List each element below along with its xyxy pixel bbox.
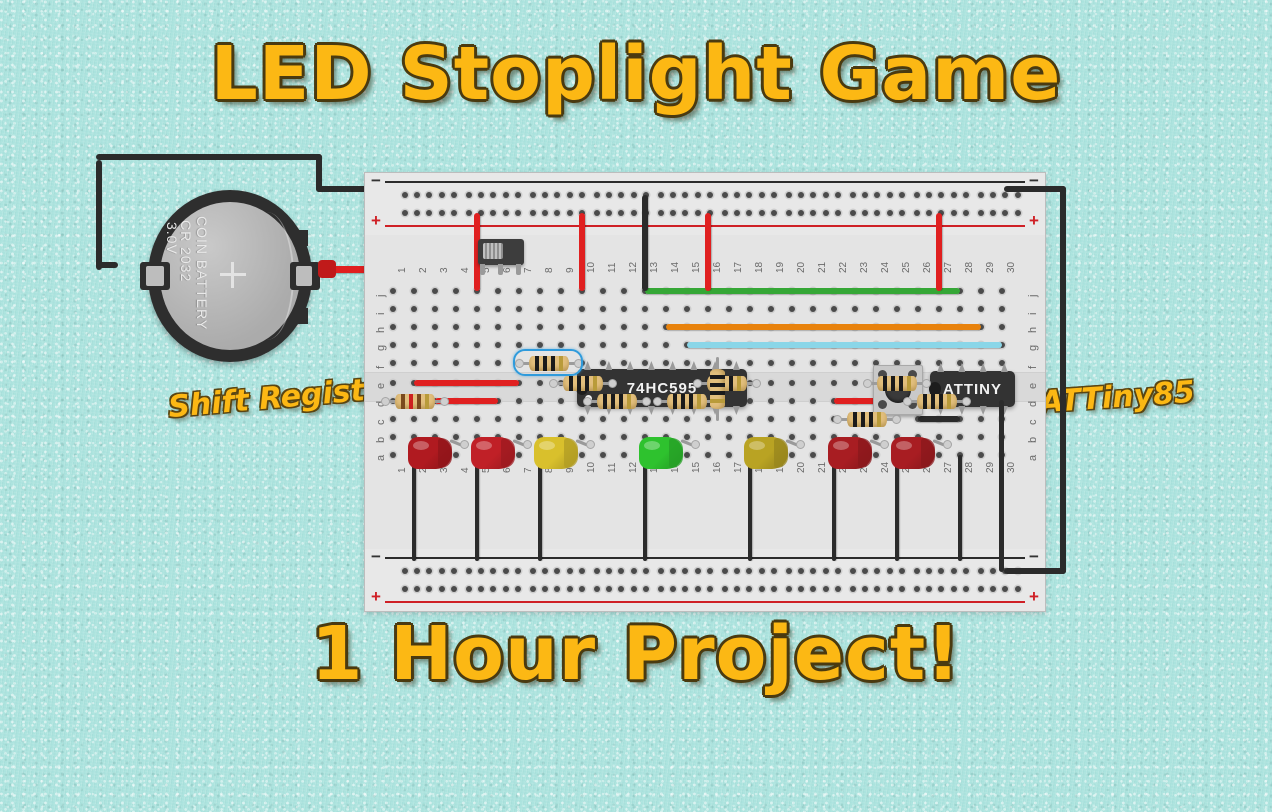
- rail-hole-bottom-neg[interactable]: [978, 586, 984, 592]
- rail-hole-top-pos[interactable]: [515, 210, 521, 216]
- rail-hole-top-neg[interactable]: [1015, 192, 1021, 198]
- hole-i19[interactable]: [768, 306, 774, 312]
- resistor-5[interactable]: [695, 376, 759, 391]
- rail-hole-top-pos[interactable]: [594, 210, 600, 216]
- resistor-6[interactable]: [865, 376, 929, 391]
- hole-j9[interactable]: [558, 288, 564, 294]
- rail-hole-bottom-pos[interactable]: [759, 568, 765, 574]
- hole-c13[interactable]: [642, 416, 648, 422]
- rail-hole-top-pos[interactable]: [722, 210, 728, 216]
- hole-f1[interactable]: [390, 360, 396, 366]
- slide-switch-slider[interactable]: [483, 243, 503, 259]
- rail-hole-top-pos[interactable]: [631, 210, 637, 216]
- hole-a21[interactable]: [810, 452, 816, 458]
- hole-c10[interactable]: [579, 416, 585, 422]
- led-yellow-2[interactable]: [534, 437, 594, 489]
- rail-hole-top-neg[interactable]: [402, 192, 408, 198]
- rail-hole-bottom-pos[interactable]: [771, 568, 777, 574]
- rail-jumper-red-4[interactable]: [936, 213, 942, 291]
- rail-hole-top-pos[interactable]: [887, 210, 893, 216]
- hole-c20[interactable]: [789, 416, 795, 422]
- rail-hole-top-pos[interactable]: [786, 210, 792, 216]
- rail-hole-bottom-pos[interactable]: [567, 568, 573, 574]
- rail-symbol-bottom-right-positive: +: [1029, 587, 1039, 607]
- rail-hole-top-neg[interactable]: [835, 192, 841, 198]
- hole-h30[interactable]: [999, 324, 1005, 330]
- resistor-band-2: [899, 376, 903, 391]
- rail-jumper-black-1[interactable]: [642, 195, 648, 291]
- resistor-input[interactable]: [383, 394, 447, 409]
- hole-f6[interactable]: [495, 360, 501, 366]
- hole-i12[interactable]: [621, 306, 627, 312]
- hole-g12[interactable]: [621, 342, 627, 348]
- hole-b29[interactable]: [978, 434, 984, 440]
- hole-g14[interactable]: [663, 342, 669, 348]
- hole-i3[interactable]: [432, 306, 438, 312]
- hole-j11[interactable]: [600, 288, 606, 294]
- rail-hole-bottom-neg[interactable]: [567, 586, 573, 592]
- rail-hole-top-pos[interactable]: [850, 210, 856, 216]
- pushbutton-leg-1: [878, 400, 887, 409]
- rail-hole-top-pos[interactable]: [835, 210, 841, 216]
- hole-i4[interactable]: [453, 306, 459, 312]
- hole-i18[interactable]: [747, 306, 753, 312]
- hole-i10[interactable]: [579, 306, 585, 312]
- rail-hole-bottom-pos[interactable]: [951, 568, 957, 574]
- hole-h8[interactable]: [537, 324, 543, 330]
- rail-hole-top-pos[interactable]: [451, 210, 457, 216]
- hole-g10[interactable]: [579, 342, 585, 348]
- rail-hole-bottom-neg[interactable]: [579, 586, 585, 592]
- hole-h4[interactable]: [453, 324, 459, 330]
- hole-f12[interactable]: [621, 360, 627, 366]
- rail-hole-top-neg[interactable]: [963, 192, 969, 198]
- rail-jumper-red-3[interactable]: [705, 213, 711, 291]
- hole-c19[interactable]: [768, 416, 774, 422]
- rail-hole-top-neg[interactable]: [503, 192, 509, 198]
- hole-h11[interactable]: [600, 324, 606, 330]
- hole-i26[interactable]: [915, 306, 921, 312]
- hole-j1[interactable]: [390, 288, 396, 294]
- hole-a29[interactable]: [978, 452, 984, 458]
- hole-h13[interactable]: [642, 324, 648, 330]
- jumper-wire-red-3[interactable]: [414, 380, 519, 386]
- rail-hole-top-pos[interactable]: [466, 210, 472, 216]
- hole-a11[interactable]: [600, 452, 606, 458]
- hole-g6[interactable]: [495, 342, 501, 348]
- hole-g1[interactable]: [390, 342, 396, 348]
- hole-i7[interactable]: [516, 306, 522, 312]
- rail-hole-bottom-pos[interactable]: [402, 568, 408, 574]
- rail-hole-bottom-neg[interactable]: [466, 586, 472, 592]
- hole-f20[interactable]: [789, 360, 795, 366]
- rail-hole-bottom-pos[interactable]: [707, 568, 713, 574]
- rail-hole-bottom-neg[interactable]: [707, 586, 713, 592]
- hole-b1[interactable]: [390, 434, 396, 440]
- rail-hole-bottom-neg[interactable]: [594, 586, 600, 592]
- row-label-right-e: e: [1027, 383, 1039, 389]
- rail-hole-top-neg[interactable]: [759, 192, 765, 198]
- rail-hole-top-pos[interactable]: [402, 210, 408, 216]
- resistor-band-2: [939, 394, 943, 409]
- hole-i17[interactable]: [726, 306, 732, 312]
- hole-j3[interactable]: [432, 288, 438, 294]
- led-red-6[interactable]: [891, 437, 951, 489]
- rail-hole-top-neg[interactable]: [695, 192, 701, 198]
- hole-e22[interactable]: [831, 380, 837, 386]
- rail-hole-bottom-pos[interactable]: [530, 568, 536, 574]
- led-red-5[interactable]: [828, 437, 888, 489]
- hole-e1[interactable]: [390, 380, 396, 386]
- hole-f5[interactable]: [474, 360, 480, 366]
- rail-hole-top-neg[interactable]: [515, 192, 521, 198]
- hole-c3[interactable]: [432, 416, 438, 422]
- hole-i22[interactable]: [831, 306, 837, 312]
- hole-h9[interactable]: [558, 324, 564, 330]
- hole-c17[interactable]: [726, 416, 732, 422]
- rail-hole-top-pos[interactable]: [658, 210, 664, 216]
- rail-hole-top-neg[interactable]: [823, 192, 829, 198]
- hole-h6[interactable]: [495, 324, 501, 330]
- rail-hole-top-neg[interactable]: [631, 192, 637, 198]
- hole-i16[interactable]: [705, 306, 711, 312]
- led-ground-leg-7[interactable]: [958, 455, 962, 561]
- hole-c4[interactable]: [453, 416, 459, 422]
- hole-a1[interactable]: [390, 452, 396, 458]
- hole-f21[interactable]: [810, 360, 816, 366]
- rail-hole-top-pos[interactable]: [503, 210, 509, 216]
- rail-hole-bottom-neg[interactable]: [402, 586, 408, 592]
- hole-e19[interactable]: [768, 380, 774, 386]
- col-label-bottom-16: 16: [712, 462, 723, 473]
- hole-c5[interactable]: [474, 416, 480, 422]
- led-green-3[interactable]: [639, 437, 699, 489]
- rail-hole-top-pos[interactable]: [914, 210, 920, 216]
- rail-hole-top-pos[interactable]: [963, 210, 969, 216]
- led-anode-tip: [586, 440, 595, 449]
- hole-f18[interactable]: [747, 360, 753, 366]
- rail-hole-bottom-neg[interactable]: [963, 586, 969, 592]
- hole-i14[interactable]: [663, 306, 669, 312]
- hole-c2[interactable]: [411, 416, 417, 422]
- rail-hole-top-neg[interactable]: [951, 192, 957, 198]
- rail-hole-top-neg[interactable]: [786, 192, 792, 198]
- battery-tab-left-metal: [146, 266, 164, 286]
- hole-f17[interactable]: [726, 360, 732, 366]
- hole-j8[interactable]: [537, 288, 543, 294]
- rail-hole-bottom-pos[interactable]: [451, 568, 457, 574]
- resistor-8[interactable]: [835, 412, 899, 427]
- hole-j29[interactable]: [978, 288, 984, 294]
- rail-hole-top-neg[interactable]: [850, 192, 856, 198]
- hole-b11[interactable]: [600, 434, 606, 440]
- hole-c21[interactable]: [810, 416, 816, 422]
- hole-g5[interactable]: [474, 342, 480, 348]
- resistor-band-3: [947, 394, 951, 409]
- rail-hole-bottom-neg[interactable]: [899, 586, 905, 592]
- rail-hole-top-neg[interactable]: [567, 192, 573, 198]
- hole-g2[interactable]: [411, 342, 417, 348]
- rail-hole-top-neg[interactable]: [887, 192, 893, 198]
- rail-hole-bottom-pos[interactable]: [643, 568, 649, 574]
- rail-hole-bottom-neg[interactable]: [1015, 586, 1021, 592]
- page-title-bottom: 1 Hour Project!: [0, 612, 1272, 696]
- hole-h12[interactable]: [621, 324, 627, 330]
- rail-hole-top-pos[interactable]: [951, 210, 957, 216]
- rail-hole-top-neg[interactable]: [722, 192, 728, 198]
- rail-hole-bottom-pos[interactable]: [786, 568, 792, 574]
- hole-f14[interactable]: [663, 360, 669, 366]
- hole-c18[interactable]: [747, 416, 753, 422]
- rail-hole-bottom-neg[interactable]: [850, 586, 856, 592]
- rail-hole-top-neg[interactable]: [466, 192, 472, 198]
- hole-c1[interactable]: [390, 416, 396, 422]
- hole-h5[interactable]: [474, 324, 480, 330]
- hole-d9[interactable]: [558, 398, 564, 404]
- rail-hole-top-pos[interactable]: [439, 210, 445, 216]
- rail-hole-bottom-pos[interactable]: [978, 568, 984, 574]
- hole-d7[interactable]: [516, 398, 522, 404]
- rail-hole-bottom-pos[interactable]: [887, 568, 893, 574]
- rail-hole-bottom-neg[interactable]: [722, 586, 728, 592]
- hole-f19[interactable]: [768, 360, 774, 366]
- rail-hole-bottom-neg[interactable]: [451, 586, 457, 592]
- resistor-band-1: [577, 376, 581, 391]
- hole-e8[interactable]: [537, 380, 543, 386]
- rail-hole-bottom-neg[interactable]: [439, 586, 445, 592]
- hole-a12[interactable]: [621, 452, 627, 458]
- hole-f13[interactable]: [642, 360, 648, 366]
- hole-h7[interactable]: [516, 324, 522, 330]
- hole-f15[interactable]: [684, 360, 690, 366]
- hole-f11[interactable]: [600, 360, 606, 366]
- hole-f3[interactable]: [432, 360, 438, 366]
- jumper-wire-orange-1[interactable]: [666, 324, 981, 330]
- hole-b28[interactable]: [957, 434, 963, 440]
- jumper-wire-green-0[interactable]: [645, 288, 960, 294]
- led-gloss: [644, 441, 660, 450]
- rail-hole-bottom-neg[interactable]: [695, 586, 701, 592]
- hole-h1[interactable]: [390, 324, 396, 330]
- rail-hole-top-pos[interactable]: [530, 210, 536, 216]
- rail-jumper-red-2[interactable]: [579, 213, 585, 291]
- hole-c6[interactable]: [495, 416, 501, 422]
- hole-j4[interactable]: [453, 288, 459, 294]
- rail-hole-bottom-neg[interactable]: [887, 586, 893, 592]
- jumper-wire-black-6[interactable]: [918, 416, 960, 422]
- rail-hole-bottom-pos[interactable]: [914, 568, 920, 574]
- rail-hole-top-neg[interactable]: [914, 192, 920, 198]
- hole-b21[interactable]: [810, 434, 816, 440]
- rail-hole-top-neg[interactable]: [579, 192, 585, 198]
- hole-i25[interactable]: [894, 306, 900, 312]
- rail-hole-bottom-pos[interactable]: [631, 568, 637, 574]
- rail-hole-top-pos[interactable]: [567, 210, 573, 216]
- hole-c12[interactable]: [621, 416, 627, 422]
- rail-hole-top-neg[interactable]: [530, 192, 536, 198]
- hole-e21[interactable]: [810, 380, 816, 386]
- battery-cell-edge: [240, 212, 294, 340]
- hole-i9[interactable]: [558, 306, 564, 312]
- hole-c8[interactable]: [537, 416, 543, 422]
- hole-i2[interactable]: [411, 306, 417, 312]
- hole-d20[interactable]: [789, 398, 795, 404]
- hole-i27[interactable]: [936, 306, 942, 312]
- hole-g4[interactable]: [453, 342, 459, 348]
- hole-c9[interactable]: [558, 416, 564, 422]
- rail-hole-top-pos[interactable]: [823, 210, 829, 216]
- rail-hole-top-neg[interactable]: [899, 192, 905, 198]
- rail-hole-bottom-pos[interactable]: [503, 568, 509, 574]
- rail-hole-bottom-neg[interactable]: [631, 586, 637, 592]
- rail-hole-top-pos[interactable]: [759, 210, 765, 216]
- hole-g7[interactable]: [516, 342, 522, 348]
- hole-b12[interactable]: [621, 434, 627, 440]
- hole-e23[interactable]: [852, 380, 858, 386]
- hole-i6[interactable]: [495, 306, 501, 312]
- hole-h3[interactable]: [432, 324, 438, 330]
- hole-g9[interactable]: [558, 342, 564, 348]
- hole-g11[interactable]: [600, 342, 606, 348]
- rail-hole-bottom-pos[interactable]: [439, 568, 445, 574]
- hole-i15[interactable]: [684, 306, 690, 312]
- rail-hole-top-pos[interactable]: [771, 210, 777, 216]
- rail-hole-bottom-pos[interactable]: [466, 568, 472, 574]
- hole-i13[interactable]: [642, 306, 648, 312]
- rail-hole-bottom-neg[interactable]: [835, 586, 841, 592]
- rail-hole-bottom-neg[interactable]: [530, 586, 536, 592]
- rail-hole-bottom-pos[interactable]: [594, 568, 600, 574]
- hole-g13[interactable]: [642, 342, 648, 348]
- hole-i5[interactable]: [474, 306, 480, 312]
- rail-hole-bottom-neg[interactable]: [658, 586, 664, 592]
- col-label-top-22: 22: [838, 262, 849, 273]
- led-olive-4[interactable]: [744, 437, 804, 489]
- resistor-band-1: [681, 394, 685, 409]
- rail-hole-bottom-neg[interactable]: [515, 586, 521, 592]
- hole-h10[interactable]: [579, 324, 585, 330]
- hole-a16[interactable]: [705, 452, 711, 458]
- rail-hole-top-neg[interactable]: [439, 192, 445, 198]
- hole-f4[interactable]: [453, 360, 459, 366]
- rail-hole-top-pos[interactable]: [978, 210, 984, 216]
- hole-a17[interactable]: [726, 452, 732, 458]
- rail-hole-bottom-pos[interactable]: [835, 568, 841, 574]
- rail-hole-bottom-pos[interactable]: [963, 568, 969, 574]
- resistor-7[interactable]: [905, 394, 969, 409]
- rail-hole-bottom-neg[interactable]: [823, 586, 829, 592]
- jumper-wire-cyan-2[interactable]: [687, 342, 1002, 348]
- rail-hole-bottom-pos[interactable]: [658, 568, 664, 574]
- hole-c15[interactable]: [684, 416, 690, 422]
- resistor-vertical[interactable]: [710, 357, 725, 421]
- rail-hole-bottom-pos[interactable]: [515, 568, 521, 574]
- rail-hole-top-neg[interactable]: [978, 192, 984, 198]
- resistor-selection-highlight: [513, 349, 583, 376]
- hole-c14[interactable]: [663, 416, 669, 422]
- hole-c11[interactable]: [600, 416, 606, 422]
- col-label-top-12: 12: [628, 262, 639, 273]
- hole-i29[interactable]: [978, 306, 984, 312]
- rail-hole-top-pos[interactable]: [695, 210, 701, 216]
- hole-i28[interactable]: [957, 306, 963, 312]
- hole-f22[interactable]: [831, 360, 837, 366]
- rail-hole-bottom-pos[interactable]: [695, 568, 701, 574]
- breadboard[interactable]: − − + + − − + + 112233445566778899101011…: [364, 172, 1046, 612]
- rail-hole-bottom-neg[interactable]: [914, 586, 920, 592]
- rail-hole-top-pos[interactable]: [899, 210, 905, 216]
- hole-d21[interactable]: [810, 398, 816, 404]
- hole-j6[interactable]: [495, 288, 501, 294]
- rail-hole-bottom-pos[interactable]: [722, 568, 728, 574]
- rail-hole-bottom-neg[interactable]: [643, 586, 649, 592]
- rail-hole-top-neg[interactable]: [451, 192, 457, 198]
- rail-hole-bottom-pos[interactable]: [899, 568, 905, 574]
- rail-hole-bottom-neg[interactable]: [503, 586, 509, 592]
- battery-neg-wire-horiz-top: [96, 154, 322, 160]
- slide-switch[interactable]: [478, 239, 524, 265]
- rail-hole-top-neg[interactable]: [594, 192, 600, 198]
- hole-f2[interactable]: [411, 360, 417, 366]
- rail-hole-top-neg[interactable]: [707, 192, 713, 198]
- hole-d8[interactable]: [537, 398, 543, 404]
- rail-hole-top-pos[interactable]: [1015, 210, 1021, 216]
- rail-hole-top-neg[interactable]: [658, 192, 664, 198]
- hole-b16[interactable]: [705, 434, 711, 440]
- hole-i21[interactable]: [810, 306, 816, 312]
- hole-j12[interactable]: [621, 288, 627, 294]
- battery-tab-right-metal: [296, 266, 312, 286]
- hole-c7[interactable]: [516, 416, 522, 422]
- rail-hole-bottom-pos[interactable]: [850, 568, 856, 574]
- rail-hole-bottom-pos[interactable]: [579, 568, 585, 574]
- hole-h2[interactable]: [411, 324, 417, 330]
- rail-hole-bottom-neg[interactable]: [951, 586, 957, 592]
- hole-j30[interactable]: [999, 288, 1005, 294]
- resistor-band-0: [569, 376, 573, 391]
- hole-j2[interactable]: [411, 288, 417, 294]
- hole-e20[interactable]: [789, 380, 795, 386]
- resistor-3[interactable]: [585, 394, 649, 409]
- col-label-top-7: 7: [523, 267, 534, 273]
- hole-i8[interactable]: [537, 306, 543, 312]
- hole-j7[interactable]: [516, 288, 522, 294]
- rail-hole-top-neg[interactable]: [771, 192, 777, 198]
- led-anode-tip: [691, 440, 700, 449]
- led-gloss: [539, 441, 555, 450]
- hole-i1[interactable]: [390, 306, 396, 312]
- hole-c29[interactable]: [978, 416, 984, 422]
- hole-f23[interactable]: [852, 360, 858, 366]
- rail-hole-bottom-pos[interactable]: [823, 568, 829, 574]
- hole-i30[interactable]: [999, 306, 1005, 312]
- led-red-1[interactable]: [471, 437, 531, 489]
- hole-d19[interactable]: [768, 398, 774, 404]
- rail-hole-bottom-neg[interactable]: [786, 586, 792, 592]
- hole-b17[interactable]: [726, 434, 732, 440]
- hole-g3[interactable]: [432, 342, 438, 348]
- rail-hole-bottom-neg[interactable]: [771, 586, 777, 592]
- hole-d18[interactable]: [747, 398, 753, 404]
- led-red-0[interactable]: [408, 437, 468, 489]
- hole-i11[interactable]: [600, 306, 606, 312]
- hole-i23[interactable]: [852, 306, 858, 312]
- rail-hole-bottom-neg[interactable]: [759, 586, 765, 592]
- hole-g8[interactable]: [537, 342, 543, 348]
- hole-i24[interactable]: [873, 306, 879, 312]
- hole-i20[interactable]: [789, 306, 795, 312]
- resistor-2[interactable]: [551, 376, 615, 391]
